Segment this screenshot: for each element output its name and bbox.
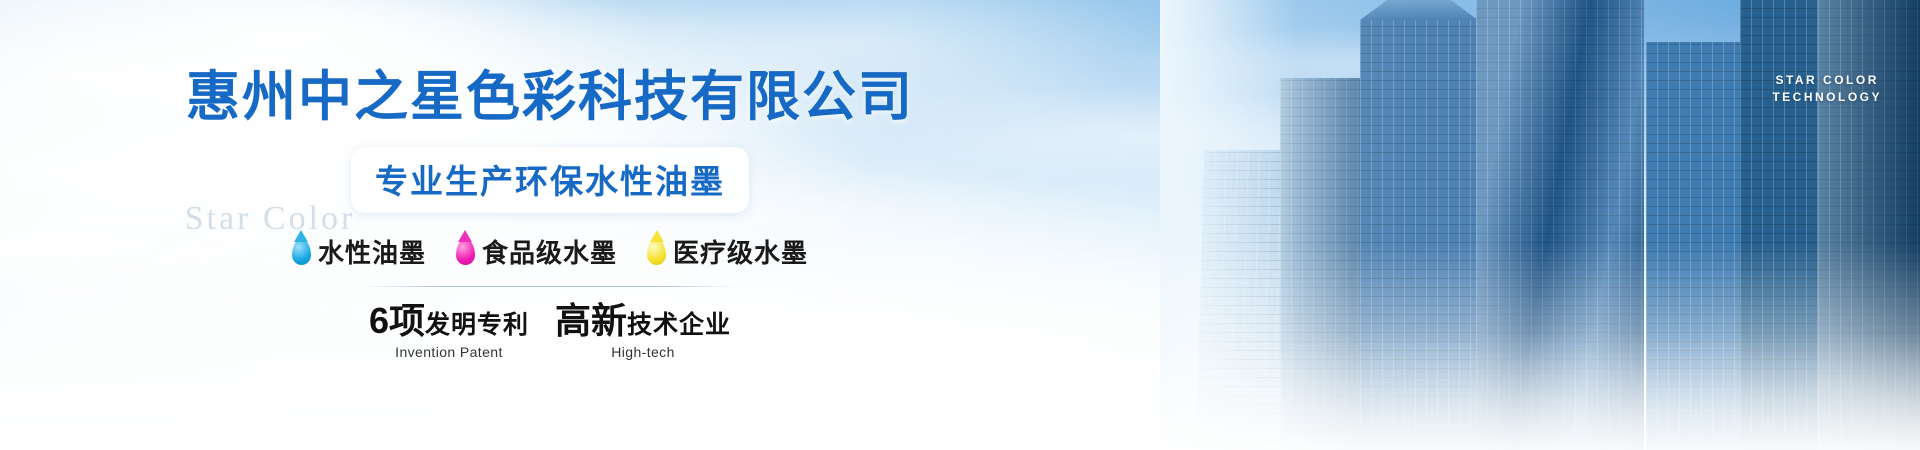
water-drop-magenta-icon <box>456 239 475 265</box>
badge-number: 高新 <box>555 300 627 341</box>
feature-label: 食品级水墨 <box>482 233 617 270</box>
badge-invention-patent: 6项发明专利 Invention Patent <box>369 303 529 360</box>
badge-title: 技术企业 <box>627 311 731 339</box>
corner-logo-line2: TECHNOLOGY <box>1772 89 1882 106</box>
feature-item-water-based-ink: 水性油墨 <box>292 233 426 270</box>
hero-banner: STAR COLOR TECHNOLOGY Star Color 惠州中之星色彩… <box>0 0 1920 450</box>
badge-main-line: 6项发明专利 <box>369 303 529 339</box>
badge-title: 发明专利 <box>425 311 529 339</box>
subtitle-text: 专业生产环保水性油墨 <box>375 155 725 203</box>
corner-logo-line1: STAR COLOR <box>1772 72 1882 89</box>
feature-list: 水性油墨 食品级水墨 医疗级水墨 <box>292 233 808 270</box>
tower-3-glass-sheen <box>1476 0 1644 450</box>
tower-1 <box>1280 78 1366 450</box>
tower-2-crown <box>1360 0 1478 20</box>
tower-2 <box>1360 20 1478 450</box>
corner-logo: STAR COLOR TECHNOLOGY <box>1772 72 1882 106</box>
credential-badges: 6项发明专利 Invention Patent 高新技术企业 High-tech <box>369 303 731 360</box>
badge-subtitle: High-tech <box>555 344 731 360</box>
divider <box>360 286 740 287</box>
page-title: 惠州中之星色彩科技有限公司 <box>186 52 914 131</box>
water-drop-cyan-icon <box>292 239 311 265</box>
badge-main-line: 高新技术企业 <box>555 303 731 339</box>
tower-6 <box>1818 0 1920 450</box>
tower-5 <box>1740 0 1820 450</box>
feature-item-medical-grade-ink: 医疗级水墨 <box>647 233 808 270</box>
water-drop-yellow-icon <box>647 239 666 265</box>
badge-number: 6项 <box>369 300 425 341</box>
badge-subtitle: Invention Patent <box>369 344 529 360</box>
tower-4 <box>1646 42 1742 450</box>
subtitle-pill: 专业生产环保水性油墨 <box>351 147 749 213</box>
skyscraper-illustration <box>1160 0 1920 450</box>
feature-item-food-grade-ink: 食品级水墨 <box>456 233 617 270</box>
feature-label: 水性油墨 <box>318 233 426 270</box>
banner-content: 惠州中之星色彩科技有限公司 专业生产环保水性油墨 水性油墨 食品级水墨 医疗级水… <box>0 0 1100 450</box>
feature-label: 医疗级水墨 <box>673 233 808 270</box>
badge-high-tech-enterprise: 高新技术企业 High-tech <box>555 303 731 360</box>
